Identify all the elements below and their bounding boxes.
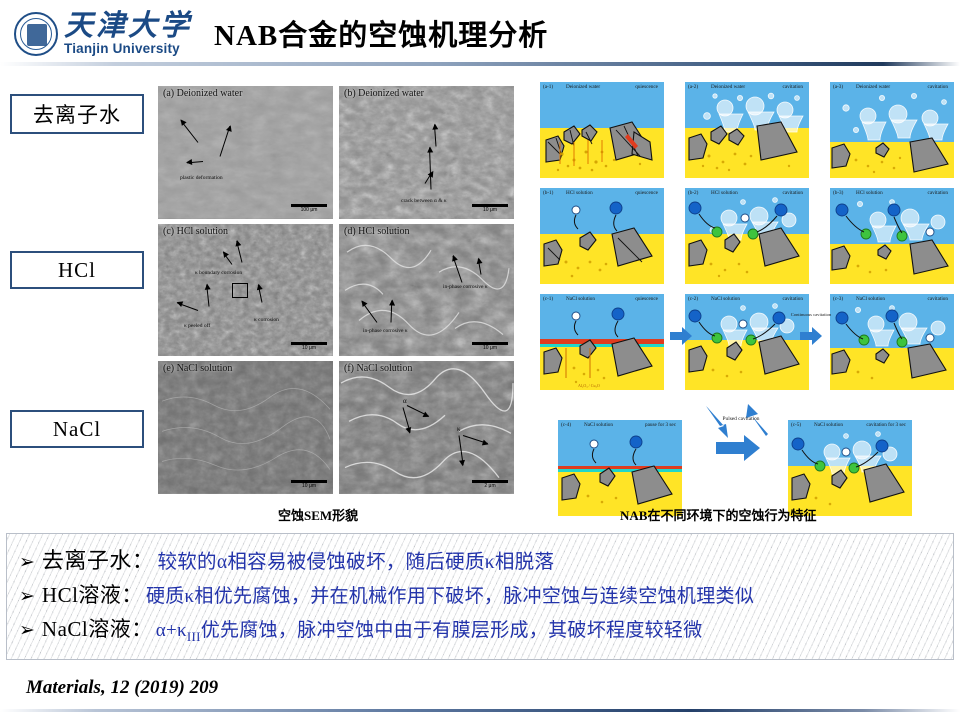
condition-label-nacl: NaCl bbox=[10, 410, 144, 448]
schematic-row-nacl: Al₂O₃ / Cu₂O (c-1) NaCl solution quiesce… bbox=[540, 294, 954, 390]
sem-scalebar-d: 10 μm bbox=[472, 342, 508, 352]
sem-caption-e: (e) NaCl solution bbox=[163, 363, 232, 374]
cell-artwork-a-3 bbox=[830, 82, 954, 178]
conclusion-body-2-pre: α+κ bbox=[156, 620, 187, 641]
cell-state-c-2: cavitation bbox=[783, 296, 803, 302]
sem-scalebar-a: 100 μm bbox=[291, 204, 327, 214]
figure-caption-left: 空蚀SEM形貌 bbox=[278, 505, 358, 524]
schematic-cell-b-1: (b-1) HCl solution quiescence bbox=[540, 188, 664, 284]
sem-caption-d: (d) HCl solution bbox=[344, 226, 410, 237]
conclusion-body-0: 较软的α相容易被侵蚀破坏，随后硬质κ相脱落 bbox=[157, 545, 554, 574]
pulsed-cavitation-label: Pulsed cavitation bbox=[716, 416, 766, 423]
sem-annotation-d-0: in-phase corrosive κ bbox=[443, 284, 488, 290]
sem-caption-f: (f) NaCl solution bbox=[344, 363, 412, 374]
cell-state-a-3: cavitation bbox=[928, 84, 948, 90]
cell-solution-a-1: Deionized water bbox=[566, 84, 600, 90]
cavitation-mechanism-schematic: (a-1) Deionized water quiescence bbox=[540, 80, 954, 492]
sem-annotation-f-1: κ bbox=[457, 425, 461, 433]
logo-english-name: Tianjin University bbox=[64, 42, 192, 57]
schematic-cell-b-3: (b-3) HCl solution cavitation bbox=[830, 188, 954, 284]
sem-panel-a: (a) Deionized water plastic deformation … bbox=[158, 86, 333, 219]
cell-solution-c-2: NaCl solution bbox=[711, 296, 740, 302]
footer-divider bbox=[0, 709, 960, 712]
cell-solution-b-1: HCl solution bbox=[566, 190, 593, 196]
sem-panel-b: (b) Deionized water crack between α & κ … bbox=[339, 86, 514, 219]
cell-id-b-1: (b-1) bbox=[543, 190, 553, 196]
sem-panel-c: (c) HCl solution κ boundary corrosion κ … bbox=[158, 224, 333, 357]
cell-artwork-c-3 bbox=[830, 294, 954, 390]
condition-label-deionized-water: 去离子水 bbox=[10, 94, 144, 134]
conclusion-body-1: 硬质κ相优先腐蚀，并在机械作用下破坏，脉冲空蚀与连续空蚀机理类似 bbox=[146, 581, 754, 608]
cell-id-a-3: (a-3) bbox=[833, 84, 843, 90]
sem-texture-f bbox=[339, 361, 514, 494]
cell-id-c-5: (c-5) bbox=[791, 422, 801, 428]
sem-texture-d bbox=[339, 224, 514, 357]
cell-id-c-1: (c-1) bbox=[543, 296, 553, 302]
sem-annotation-c-1: κ peeled off bbox=[184, 323, 210, 329]
scalebar-label: 10 μm bbox=[472, 207, 508, 214]
cell-id-b-2: (b-2) bbox=[688, 190, 698, 196]
sem-micrograph-grid: (a) Deionized water plastic deformation … bbox=[158, 86, 514, 494]
conclusion-box: ➢ 去离子水： 较软的α相容易被侵蚀破坏，随后硬质κ相脱落 ➢ HCl溶液： 硬… bbox=[6, 533, 954, 660]
cell-solution-a-2: Deionized water bbox=[711, 84, 745, 90]
cell-state-c-3: cavitation bbox=[928, 296, 948, 302]
cell-id-a-1: (a-1) bbox=[543, 84, 553, 90]
sem-annotation-b-0: crack between α & κ bbox=[401, 198, 447, 204]
conclusion-row-deionized-water: ➢ 去离子水： 较软的α相容易被侵蚀破坏，随后硬质κ相脱落 bbox=[7, 543, 953, 575]
cell-solution-b-3: HCl solution bbox=[856, 190, 883, 196]
conclusion-row-nacl: ➢ NaCl溶液： α+κIII优先腐蚀，脉冲空蚀中由于有膜层形成，其破坏程度较… bbox=[7, 613, 953, 645]
cell-artwork-b-2 bbox=[685, 188, 809, 284]
cell-artwork-a-1 bbox=[540, 82, 664, 178]
cell-solution-c-3: NaCl solution bbox=[856, 296, 885, 302]
cell-artwork-a-2 bbox=[685, 82, 809, 178]
conclusion-head-1: HCl溶液： bbox=[42, 579, 143, 609]
cell-artwork-c-1: Al₂O₃ / Cu₂O bbox=[540, 294, 664, 390]
schematic-cell-a-2: (a-2) Deionized water cavitation bbox=[685, 82, 809, 178]
sem-scalebar-e: 10 μm bbox=[291, 480, 327, 490]
cell-solution-c-1: NaCl solution bbox=[566, 296, 595, 302]
cell-id-c-3: (c-3) bbox=[833, 296, 843, 302]
sem-panel-d: (d) HCl solution in-phase corrosive κ in… bbox=[339, 224, 514, 357]
cell-state-c-1: quiescence bbox=[635, 296, 658, 302]
sem-panel-f: (f) NaCl solution α κ 2 μm bbox=[339, 361, 514, 494]
scalebar-label: 10 μm bbox=[291, 483, 327, 490]
bullet-arrow-icon: ➢ bbox=[19, 553, 35, 572]
condition-label-hcl: HCl bbox=[10, 251, 144, 289]
cell-id-a-2: (a-2) bbox=[688, 84, 698, 90]
conclusion-body-2-post: 优先腐蚀，脉冲空蚀中由于有膜层形成，其破坏程度较轻微 bbox=[201, 620, 703, 641]
region-of-interest-box bbox=[232, 283, 248, 298]
conclusion-row-hcl: ➢ HCl溶液： 硬质κ相优先腐蚀，并在机械作用下破坏，脉冲空蚀与连续空蚀机理类… bbox=[7, 579, 953, 609]
cell-state-b-2: cavitation bbox=[783, 190, 803, 196]
cell-artwork-c-2 bbox=[685, 294, 809, 390]
scalebar-label: 10 μm bbox=[472, 345, 508, 352]
cell-artwork-b-1 bbox=[540, 188, 664, 284]
sem-panel-e: (e) NaCl solution 10 μm bbox=[158, 361, 333, 494]
continuous-cavitation-label: Continuous cavitation bbox=[788, 312, 834, 318]
scalebar-label: 100 μm bbox=[291, 207, 327, 214]
slide-root: 天津大学 Tianjin University NAB合金的空蚀机理分析 去离子… bbox=[0, 0, 960, 720]
cell-solution-b-2: HCl solution bbox=[711, 190, 738, 196]
cell-id-c-2: (c-2) bbox=[688, 296, 698, 302]
sem-scalebar-b: 10 μm bbox=[472, 204, 508, 214]
cell-artwork-c-4 bbox=[558, 420, 682, 516]
scalebar-label: 2 μm bbox=[472, 483, 508, 490]
conclusion-body-2: α+κIII优先腐蚀，脉冲空蚀中由于有膜层形成，其破坏程度较轻微 bbox=[156, 615, 703, 645]
conclusion-head-2: NaCl溶液： bbox=[42, 613, 153, 643]
slide-header: 天津大学 Tianjin University NAB合金的空蚀机理分析 bbox=[0, 0, 960, 68]
cell-id-b-3: (b-3) bbox=[833, 190, 843, 196]
cell-artwork-c-5 bbox=[788, 420, 912, 516]
cell-id-c-4: (c-4) bbox=[561, 422, 571, 428]
schematic-row-deionized-water: (a-1) Deionized water quiescence bbox=[540, 82, 954, 178]
cell-solution-a-3: Deionized water bbox=[856, 84, 890, 90]
sem-caption-b: (b) Deionized water bbox=[344, 88, 424, 99]
sem-texture-a bbox=[158, 86, 333, 219]
cell-state-c-4: pause for 3 sec bbox=[645, 422, 676, 428]
schematic-cell-b-2: (b-2) HCl solution cavitation bbox=[685, 188, 809, 284]
sem-caption-c: (c) HCl solution bbox=[163, 226, 228, 237]
university-logo: 天津大学 Tianjin University bbox=[14, 6, 202, 62]
sem-annotation-f-0: α bbox=[403, 397, 407, 405]
schematic-cell-c-1: Al₂O₃ / Cu₂O (c-1) NaCl solution quiesce… bbox=[540, 294, 664, 390]
bullet-arrow-icon: ➢ bbox=[19, 621, 35, 640]
figure-caption-right: NAB在不同环境下的空蚀行为特征 bbox=[620, 505, 816, 524]
sem-scalebar-f: 2 μm bbox=[472, 480, 508, 490]
film-composition-note: Al₂O₃ / Cu₂O bbox=[578, 383, 600, 388]
sem-annotation-a-0: plastic deformation bbox=[180, 175, 223, 181]
cell-state-a-1: quiescence bbox=[635, 84, 658, 90]
schematic-cell-a-1: (a-1) Deionized water quiescence bbox=[540, 82, 664, 178]
cell-state-b-3: cavitation bbox=[928, 190, 948, 196]
schematic-cell-a-3: (a-3) Deionized water cavitation bbox=[830, 82, 954, 178]
cell-solution-c-4: NaCl solution bbox=[584, 422, 613, 428]
sem-annotation-d-1: in-phase corrosive κ bbox=[363, 328, 408, 334]
page-title: NAB合金的空蚀机理分析 bbox=[214, 12, 914, 54]
schematic-cell-c-2: (c-2) NaCl solution cavitation bbox=[685, 294, 809, 390]
conclusion-body-2-subscript: III bbox=[187, 629, 201, 644]
sem-scalebar-c: 10 μm bbox=[291, 342, 327, 352]
logo-text-block: 天津大学 Tianjin University bbox=[64, 11, 192, 57]
conclusion-head-0: 去离子水： bbox=[42, 543, 155, 575]
schematic-pulsed-row: (c-4) NaCl solution pause for 3 sec bbox=[540, 402, 954, 494]
sem-texture-e bbox=[158, 361, 333, 494]
schematic-row-hcl: (b-1) HCl solution quiescence bbox=[540, 188, 954, 284]
cell-solution-c-5: NaCl solution bbox=[814, 422, 843, 428]
cell-artwork-b-3 bbox=[830, 188, 954, 284]
scalebar-label: 10 μm bbox=[291, 345, 327, 352]
bullet-arrow-icon: ➢ bbox=[19, 587, 35, 606]
logo-chinese-name: 天津大学 bbox=[64, 11, 192, 41]
sem-annotation-c-0: κ boundary corrosion bbox=[195, 270, 242, 276]
tianjin-university-seal-icon bbox=[14, 12, 58, 56]
schematic-cell-c-5: (c-5) NaCl solution cavitation for 3 sec bbox=[788, 420, 912, 516]
cell-state-a-2: cavitation bbox=[783, 84, 803, 90]
reference-citation: Materials, 12 (2019) 209 bbox=[26, 677, 218, 699]
schematic-cell-c-3: (c-3) NaCl solution cavitation bbox=[830, 294, 954, 390]
header-divider bbox=[0, 62, 960, 66]
sem-caption-a: (a) Deionized water bbox=[163, 88, 242, 99]
schematic-cell-c-4: (c-4) NaCl solution pause for 3 sec bbox=[558, 420, 682, 516]
cell-state-c-5: cavitation for 3 sec bbox=[866, 422, 906, 428]
sem-annotation-c-2: κ corrosion bbox=[254, 317, 279, 323]
cell-state-b-1: quiescence bbox=[635, 190, 658, 196]
